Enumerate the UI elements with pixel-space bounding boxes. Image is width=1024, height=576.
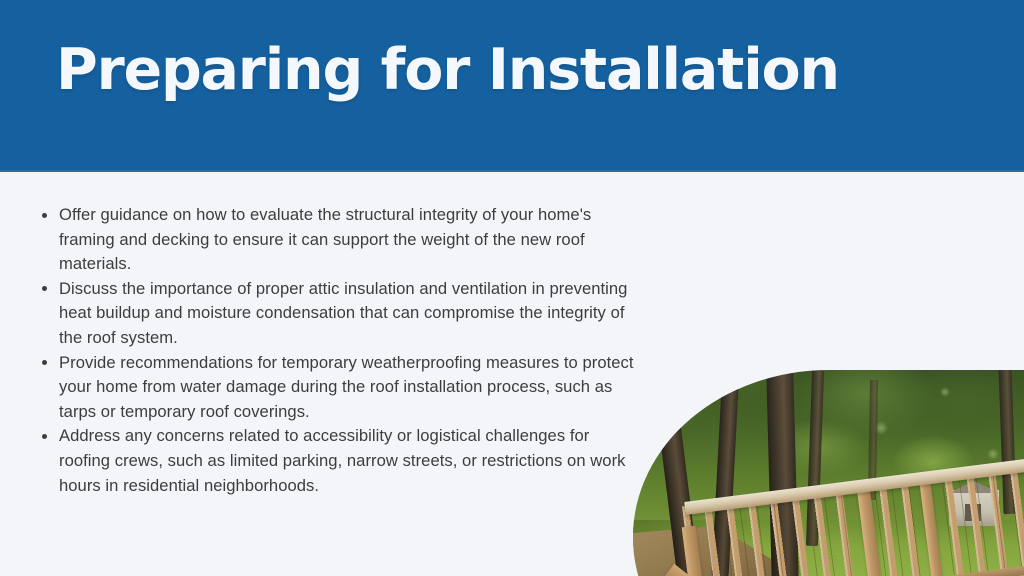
deck-photo — [633, 370, 1024, 576]
list-item-text: Address any concerns related to accessib… — [59, 426, 626, 494]
list-item: Address any concerns related to accessib… — [38, 424, 638, 498]
bullet-dot-icon — [42, 360, 47, 365]
slide-content-area: Offer guidance on how to evaluate the st… — [0, 172, 1024, 576]
bullet-dot-icon — [42, 213, 47, 218]
list-item: Provide recommendations for temporary we… — [38, 351, 638, 425]
list-item: Discuss the importance of proper attic i… — [38, 277, 638, 351]
list-item-text: Discuss the importance of proper attic i… — [59, 279, 627, 347]
slide: Preparing for Installation Offer guidanc… — [0, 0, 1024, 576]
list-item-text: Offer guidance on how to evaluate the st… — [59, 205, 591, 273]
bullet-list: Offer guidance on how to evaluate the st… — [38, 203, 638, 498]
page-title: Preparing for Installation — [56, 40, 839, 102]
list-item-text: Provide recommendations for temporary we… — [59, 353, 634, 421]
bullet-dot-icon — [42, 434, 47, 439]
list-item: Offer guidance on how to evaluate the st… — [38, 203, 638, 277]
bullet-dot-icon — [42, 286, 47, 291]
slide-header-band: Preparing for Installation — [0, 0, 1024, 172]
deck-photo-panel — [633, 370, 1024, 576]
